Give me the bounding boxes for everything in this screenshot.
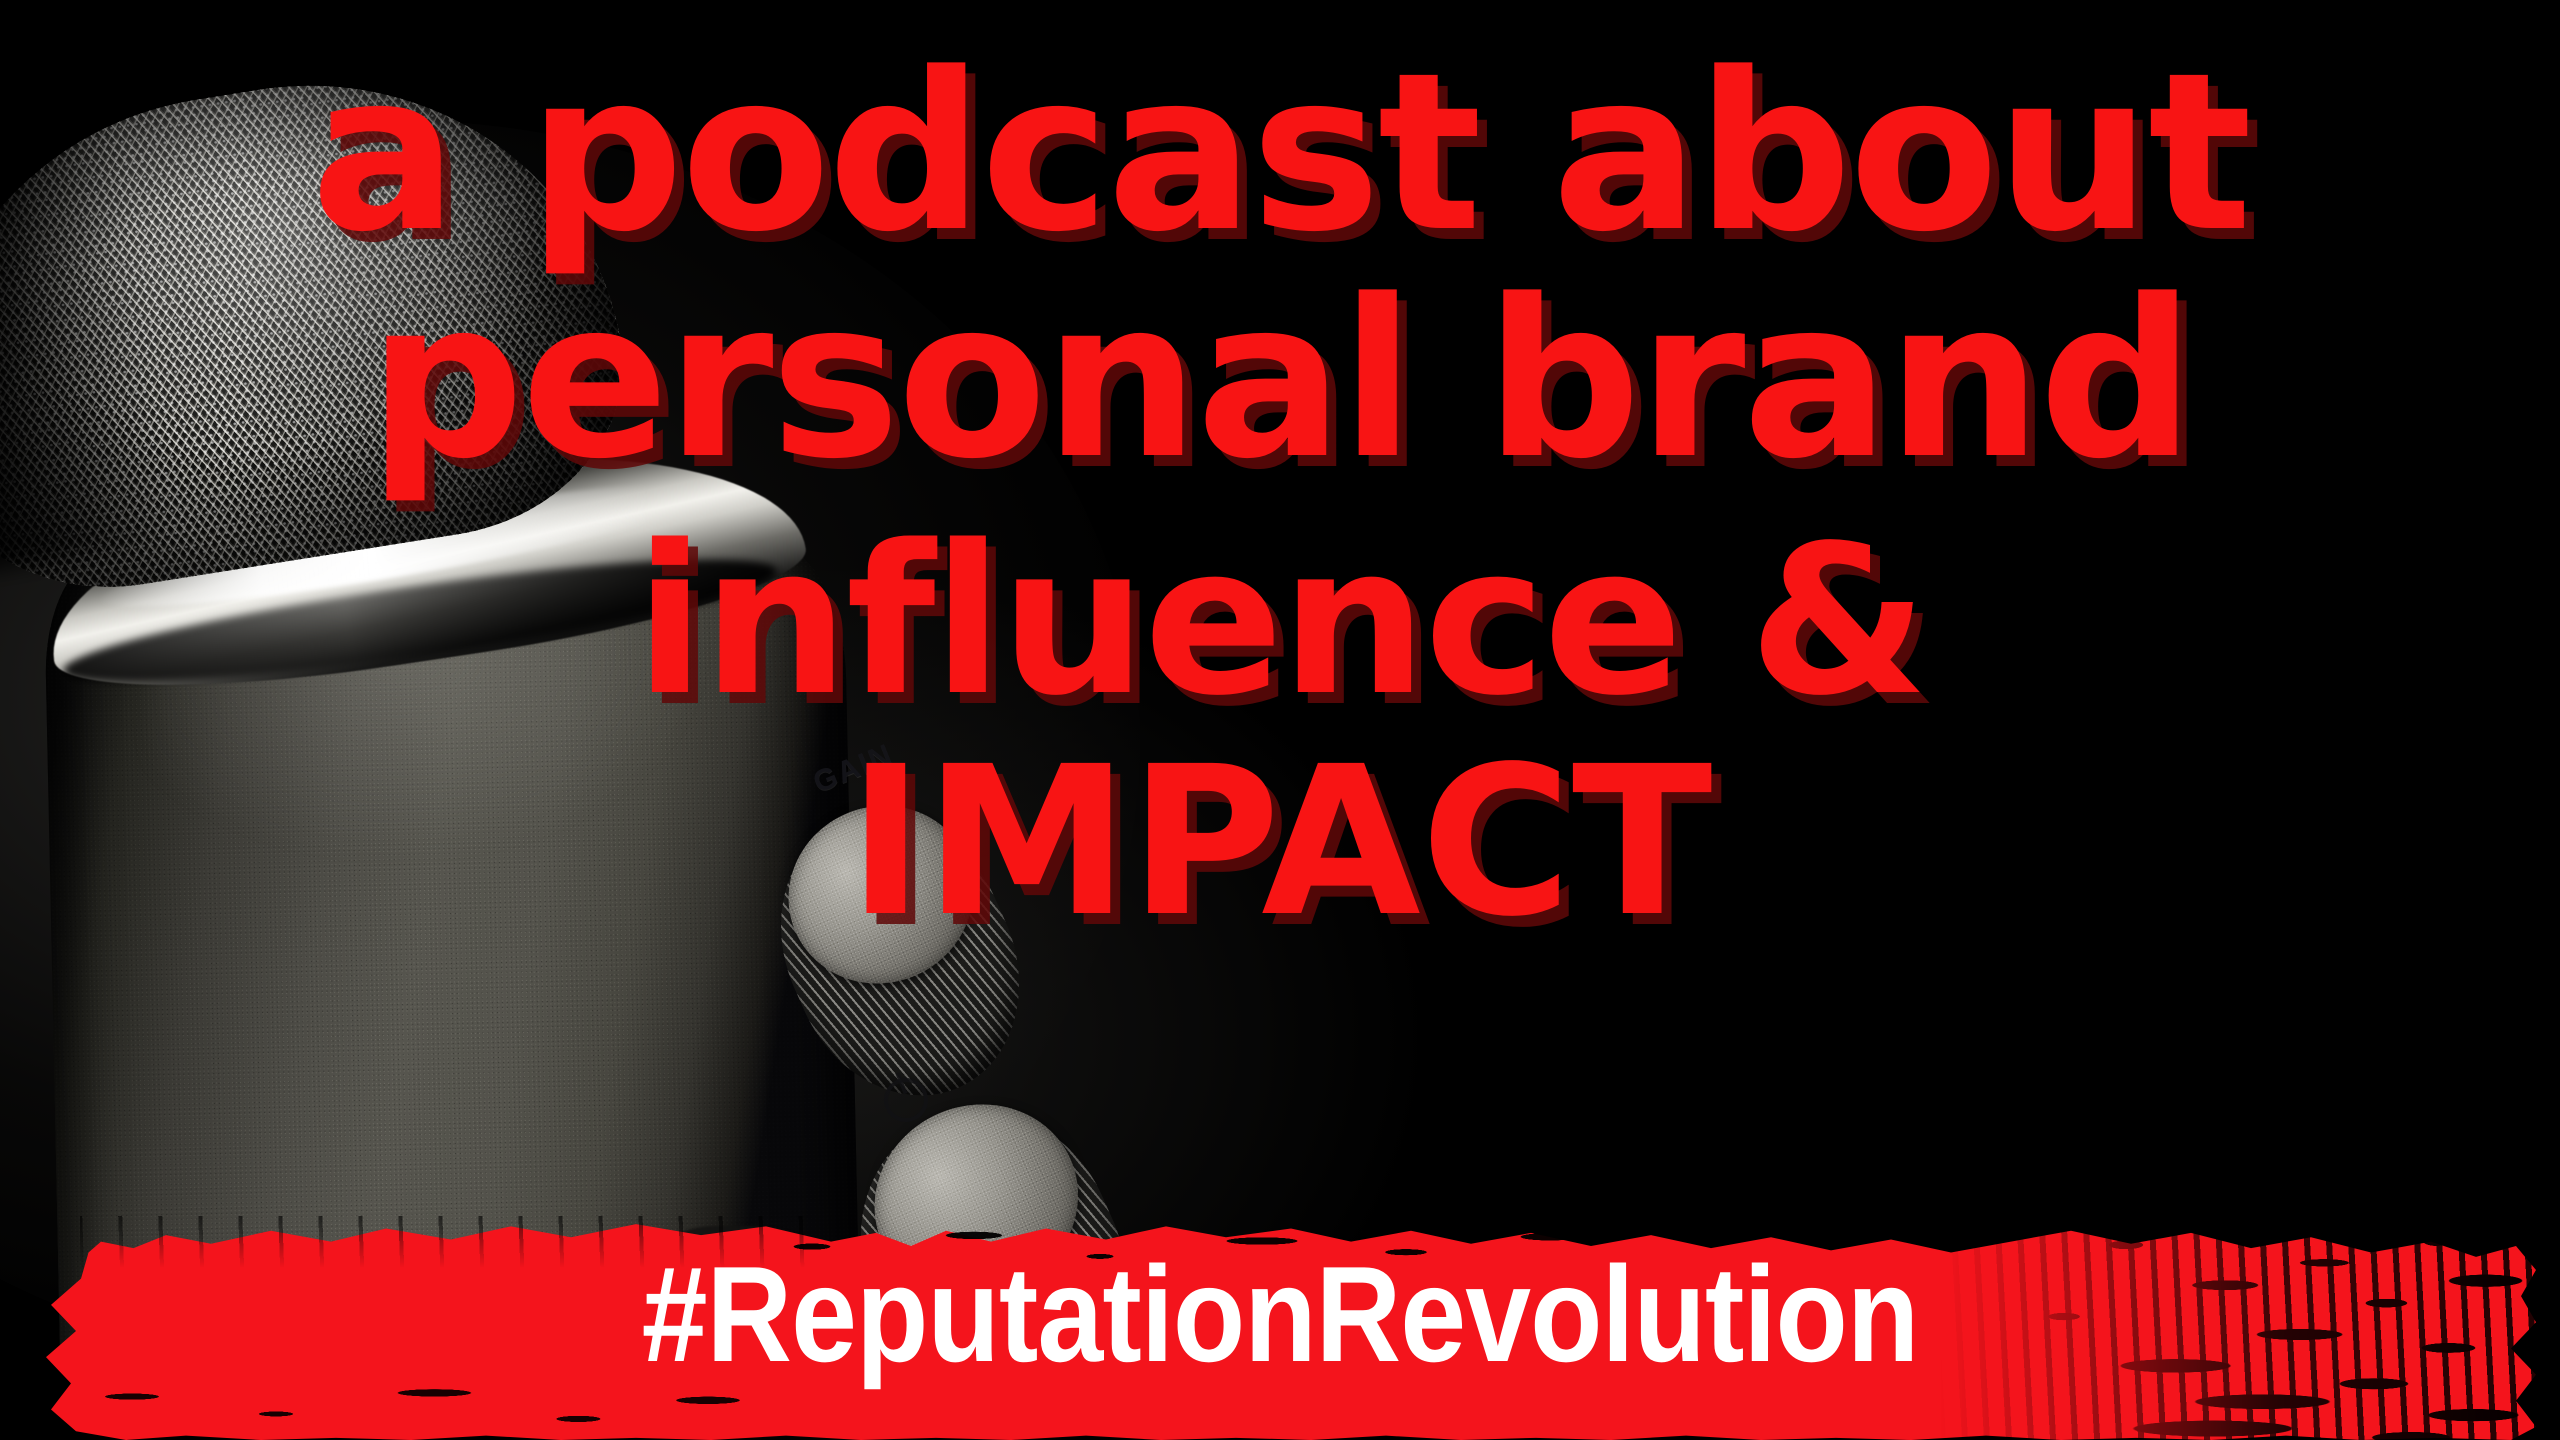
hashtag-text: #ReputationRevolution	[166, 1246, 2393, 1382]
podcast-promo-graphic: GAIN a podcast about personal brand infl…	[0, 0, 2560, 1440]
hashtag-banner: #ReputationRevolution	[0, 1190, 2560, 1440]
